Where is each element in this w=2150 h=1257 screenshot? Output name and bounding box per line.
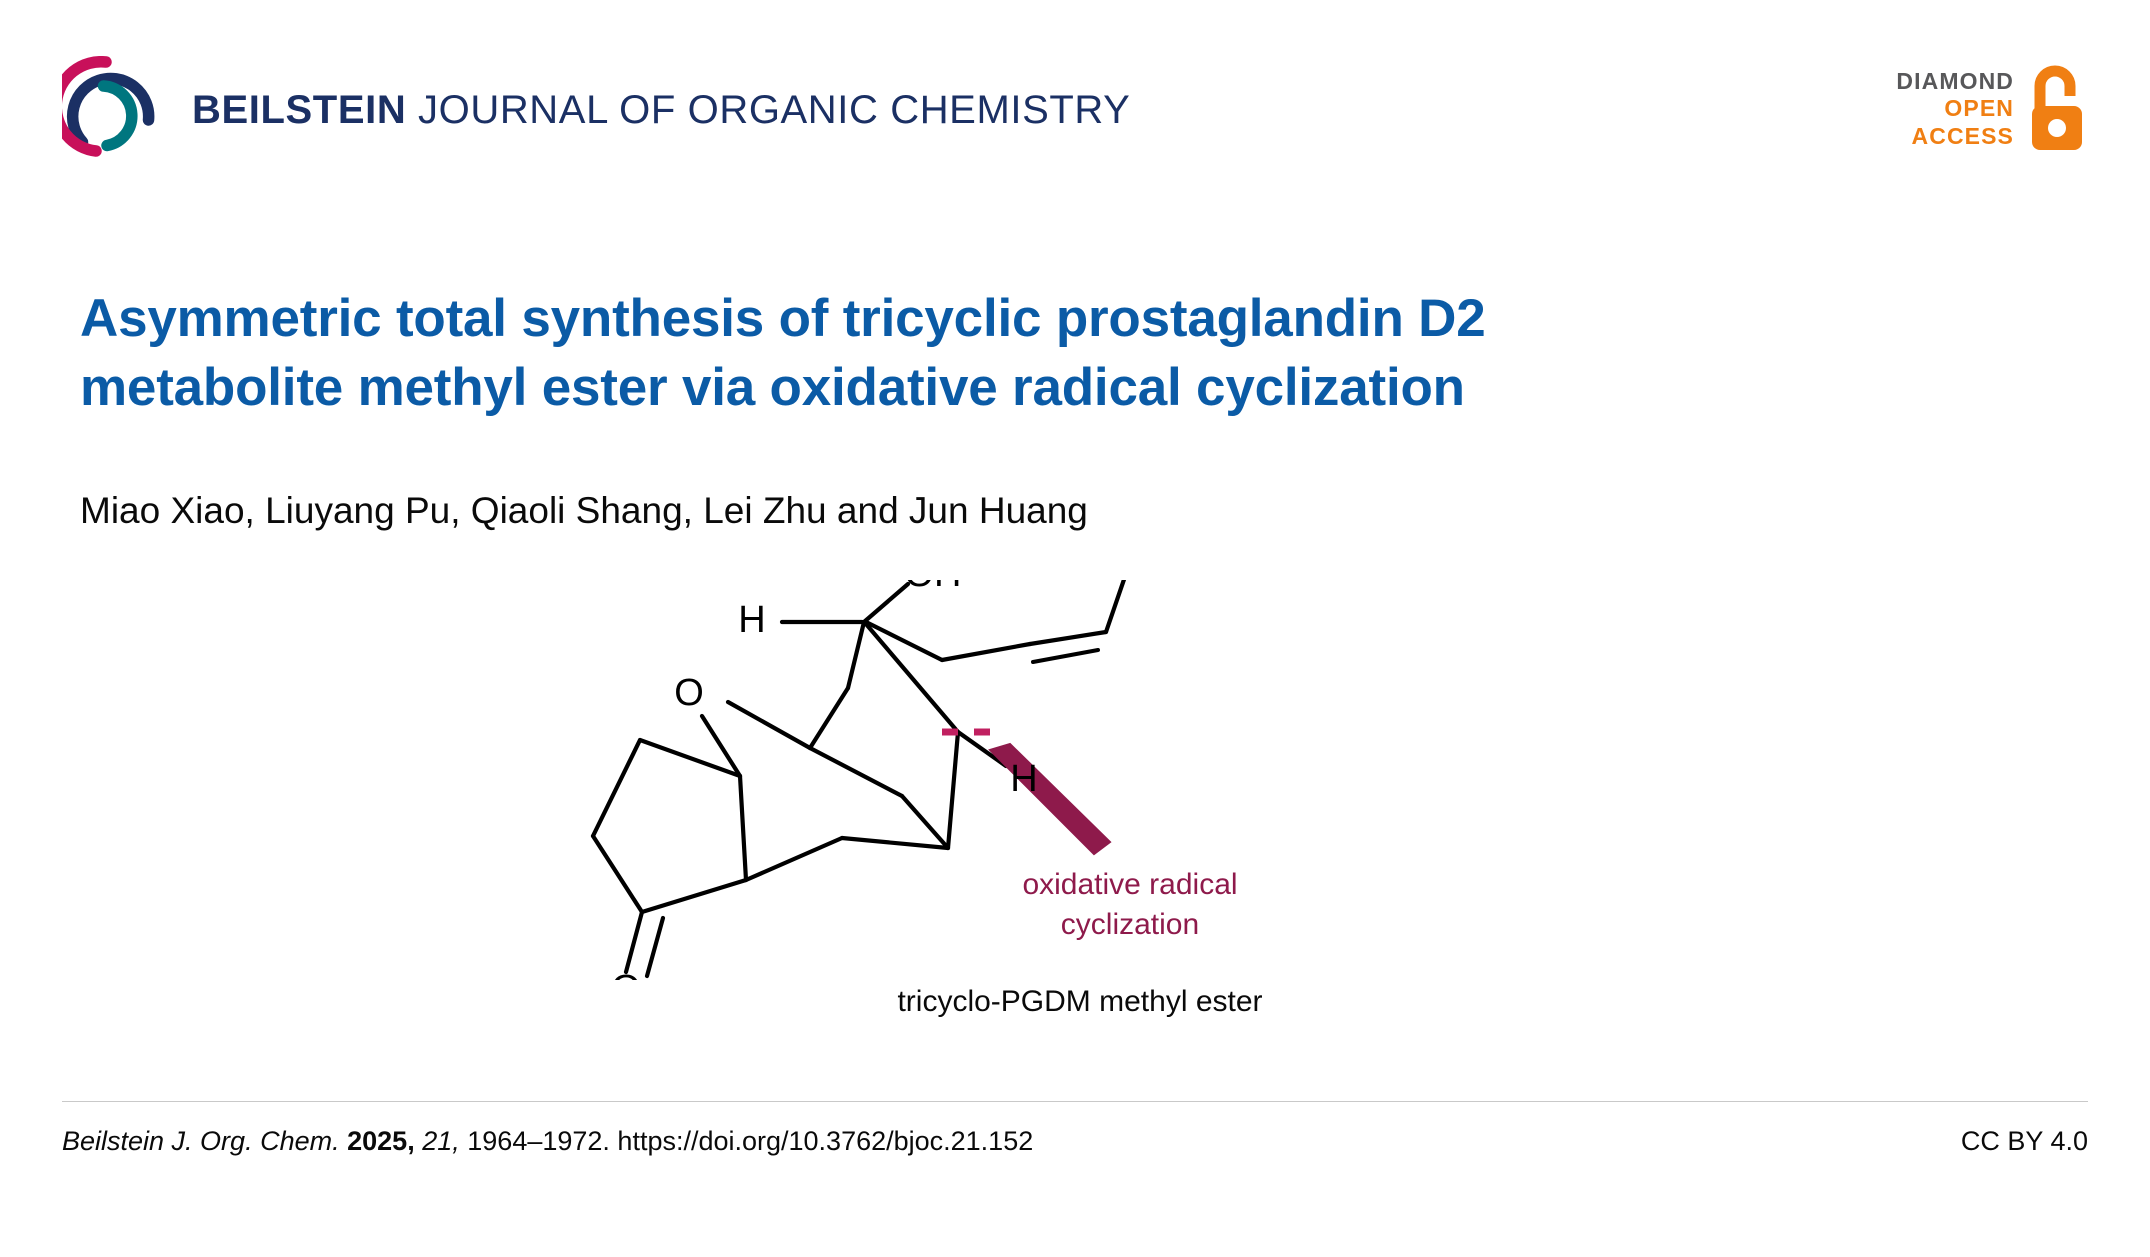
page-title: Asymmetric total synthesis of tricyclic … [80, 285, 1960, 423]
open-padlock-icon [2026, 62, 2088, 154]
oa-label-access: ACCESS [1896, 123, 2014, 150]
atom-label-ketone-oxygen: O [611, 968, 641, 980]
structure-caption: tricyclo-PGDM methyl ester [490, 985, 1670, 1019]
journal-masthead: BEILSTEIN JOURNAL OF ORGANIC CHEMISTRY [62, 52, 2088, 164]
author-list: Miao Xiao, Liuyang Pu, Qiaoli Shang, Lei… [80, 488, 1960, 534]
wordmark-subtitle: JOURNAL OF ORGANIC CHEMISTRY [406, 88, 1130, 132]
journal-cover-page: BEILSTEIN JOURNAL OF ORGANIC CHEMISTRY D… [0, 0, 2150, 1257]
wedge-bond-crimson [990, 744, 1110, 854]
citation-year: 2025 [347, 1126, 407, 1156]
citation-doi-link[interactable]: https://doi.org/10.3762/bjoc.21.152 [617, 1126, 1033, 1156]
atom-label-hydroxyl: OH [905, 580, 962, 595]
annotation-line-2: cyclization [1061, 908, 1199, 941]
oa-label-diamond: DIAMOND [1896, 68, 2014, 95]
diamond-open-access-badge: DIAMOND OPEN ACCESS [1896, 60, 2088, 156]
footer: Beilstein J. Org. Chem. 2025, 21, 1964–1… [62, 1126, 2088, 1157]
citation-pages: 1964–1972. [460, 1126, 618, 1156]
citation-journal: Beilstein J. Org. Chem. [62, 1126, 340, 1156]
citation-volume: 21 [415, 1126, 453, 1156]
atom-label-hydrogen-right: H [1010, 758, 1037, 800]
citation: Beilstein J. Org. Chem. 2025, 21, 1964–1… [62, 1126, 1033, 1157]
citation-comma-2: , [452, 1126, 460, 1156]
annotation-line-1: oxidative radical [1022, 868, 1237, 901]
beilstein-spiral-logo-icon [62, 56, 166, 160]
graphical-abstract: H OH O H O COOMe oxidative radical cycli… [490, 580, 1670, 1050]
journal-wordmark: BEILSTEIN JOURNAL OF ORGANIC CHEMISTRY [192, 86, 1130, 130]
open-access-text: DIAMOND OPEN ACCESS [1896, 66, 2014, 149]
atom-label-ring-oxygen: O [674, 672, 704, 714]
atom-label-hydrogen-top: H [738, 599, 765, 641]
chemical-structure-tricyclo-pgdm-methyl-ester: H OH O H O COOMe oxidative radical cycli… [490, 580, 1670, 980]
citation-comma-1: , [407, 1126, 415, 1156]
wordmark-beilstein: BEILSTEIN [192, 88, 406, 132]
footer-divider [62, 1101, 2088, 1102]
title-line-1: Asymmetric total synthesis of tricyclic … [80, 285, 1960, 354]
license-label: CC BY 4.0 [1961, 1126, 2088, 1157]
title-line-2: metabolite methyl ester via oxidative ra… [80, 354, 1960, 423]
oa-label-open: OPEN [1896, 95, 2014, 122]
